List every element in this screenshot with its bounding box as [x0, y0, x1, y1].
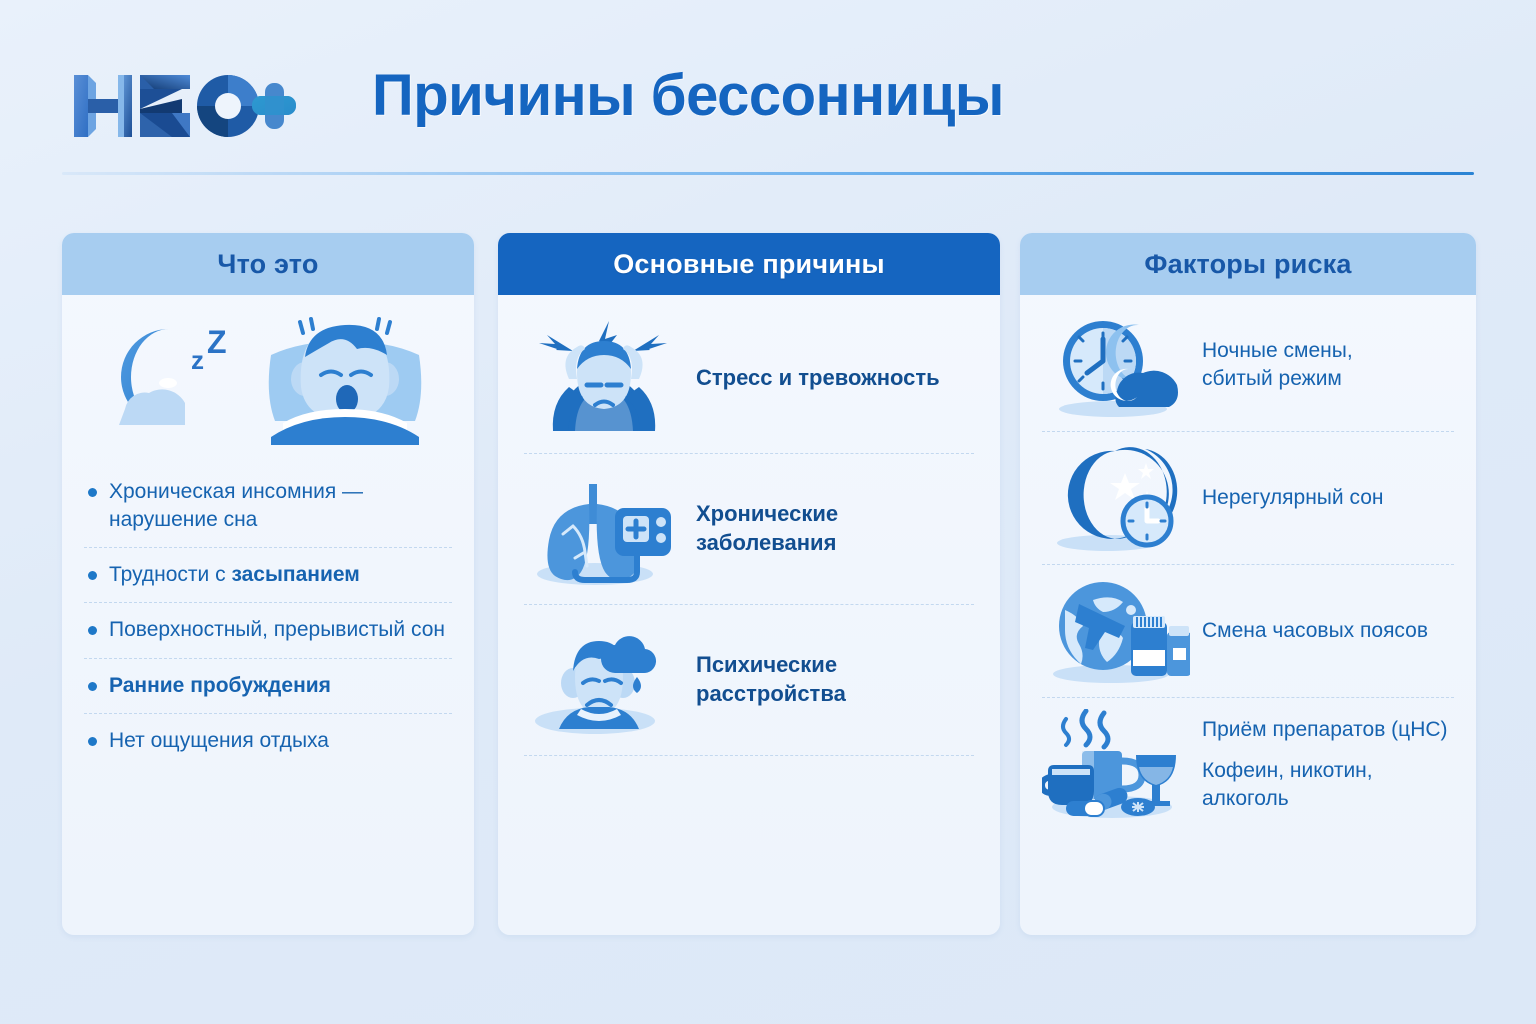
- card-what-body: z Z: [62, 295, 474, 768]
- list-item: Поверхностный, прерывистый сон: [84, 603, 452, 658]
- card-what-is-it: Что это z Z: [62, 233, 474, 935]
- what-illustration: z Z: [62, 295, 474, 455]
- list-item-label: Стресс и тревожность: [684, 364, 940, 393]
- list-item: Ранние пробуждения: [84, 659, 452, 714]
- list-item: Нерегулярный сон: [1042, 432, 1454, 565]
- lungs-monitor-icon: [524, 470, 684, 588]
- neo-plus-logo-icon: [72, 69, 298, 143]
- card-risks-body: Ночные смены, сбитый режим: [1020, 295, 1476, 831]
- bullet-dot-icon: [88, 737, 97, 746]
- yawning-person-icon: [261, 313, 429, 448]
- risks-items-list: Ночные смены, сбитый режим: [1020, 295, 1476, 831]
- list-item: Приём препаратов (цНС) Кофеин, никотин, …: [1042, 698, 1454, 831]
- list-item: Хроническая инсомния — нарушение сна: [84, 465, 452, 548]
- sad-person-raincloud-icon: [524, 621, 684, 739]
- list-item: Психические расстройства: [524, 605, 974, 756]
- list-item-label: Нерегулярный сон: [1192, 484, 1383, 512]
- list-item-label: Смена часовых поясов: [1192, 617, 1428, 645]
- list-item-label: Хроническая инсомния — нарушение сна: [109, 478, 452, 534]
- svg-text:z: z: [191, 345, 204, 375]
- card-main-causes: Основные причины: [498, 233, 1000, 935]
- bullet-dot-icon: [88, 488, 97, 497]
- bullet-dot-icon: [88, 626, 97, 635]
- crescent-stars-clock-icon: [1042, 442, 1192, 554]
- card-risks-heading: Факторы риска: [1020, 233, 1476, 295]
- what-items-list: Хроническая инсомния — нарушение сна Тру…: [62, 455, 474, 768]
- card-causes-body: Стресс и тревожность: [498, 295, 1000, 756]
- sleeping-moon-icon: z Z: [107, 313, 257, 448]
- list-item: Хронические заболевания: [524, 454, 974, 605]
- causes-items-list: Стресс и тревожность: [498, 295, 1000, 756]
- page-title: Причины бессонницы: [372, 62, 1004, 129]
- brand-logo: [72, 66, 302, 146]
- list-item: Стресс и тревожность: [524, 303, 974, 454]
- list-item-label: Ночные смены, сбитый режим: [1192, 337, 1353, 392]
- list-item-label: Хронические заболевания: [684, 500, 974, 557]
- bullet-dot-icon: [88, 571, 97, 580]
- globe-plane-pills-icon: [1042, 575, 1192, 687]
- header-divider: [62, 172, 1474, 175]
- clock-moon-icon: [1042, 309, 1192, 421]
- list-item-label: Приём препаратов (цНС) Кофеин, никотин, …: [1192, 716, 1454, 812]
- stressed-head-icon: [524, 319, 684, 437]
- card-risk-factors: Факторы риска: [1020, 233, 1476, 935]
- list-item: Нет ощущения отдыха: [84, 714, 452, 768]
- list-item: Ночные смены, сбитый режим: [1042, 299, 1454, 432]
- card-what-heading: Что это: [62, 233, 474, 295]
- list-item-label: Трудности с засыпанием: [109, 561, 360, 589]
- bullet-dot-icon: [88, 682, 97, 691]
- svg-text:Z: Z: [207, 324, 227, 360]
- list-item-label: Поверхностный, прерывистый сон: [109, 616, 445, 644]
- list-item-label: Ранние пробуждения: [109, 672, 331, 700]
- card-causes-heading: Основные причины: [498, 233, 1000, 295]
- list-item-label: Психические расстройства: [684, 651, 974, 708]
- page-header: Причины бессонницы: [0, 0, 1536, 180]
- coffee-wine-pills-icon: [1042, 709, 1192, 821]
- list-item: Смена часовых поясов: [1042, 565, 1454, 698]
- list-item: Трудности с засыпанием: [84, 548, 452, 603]
- list-item-label: Нет ощущения отдыха: [109, 727, 329, 755]
